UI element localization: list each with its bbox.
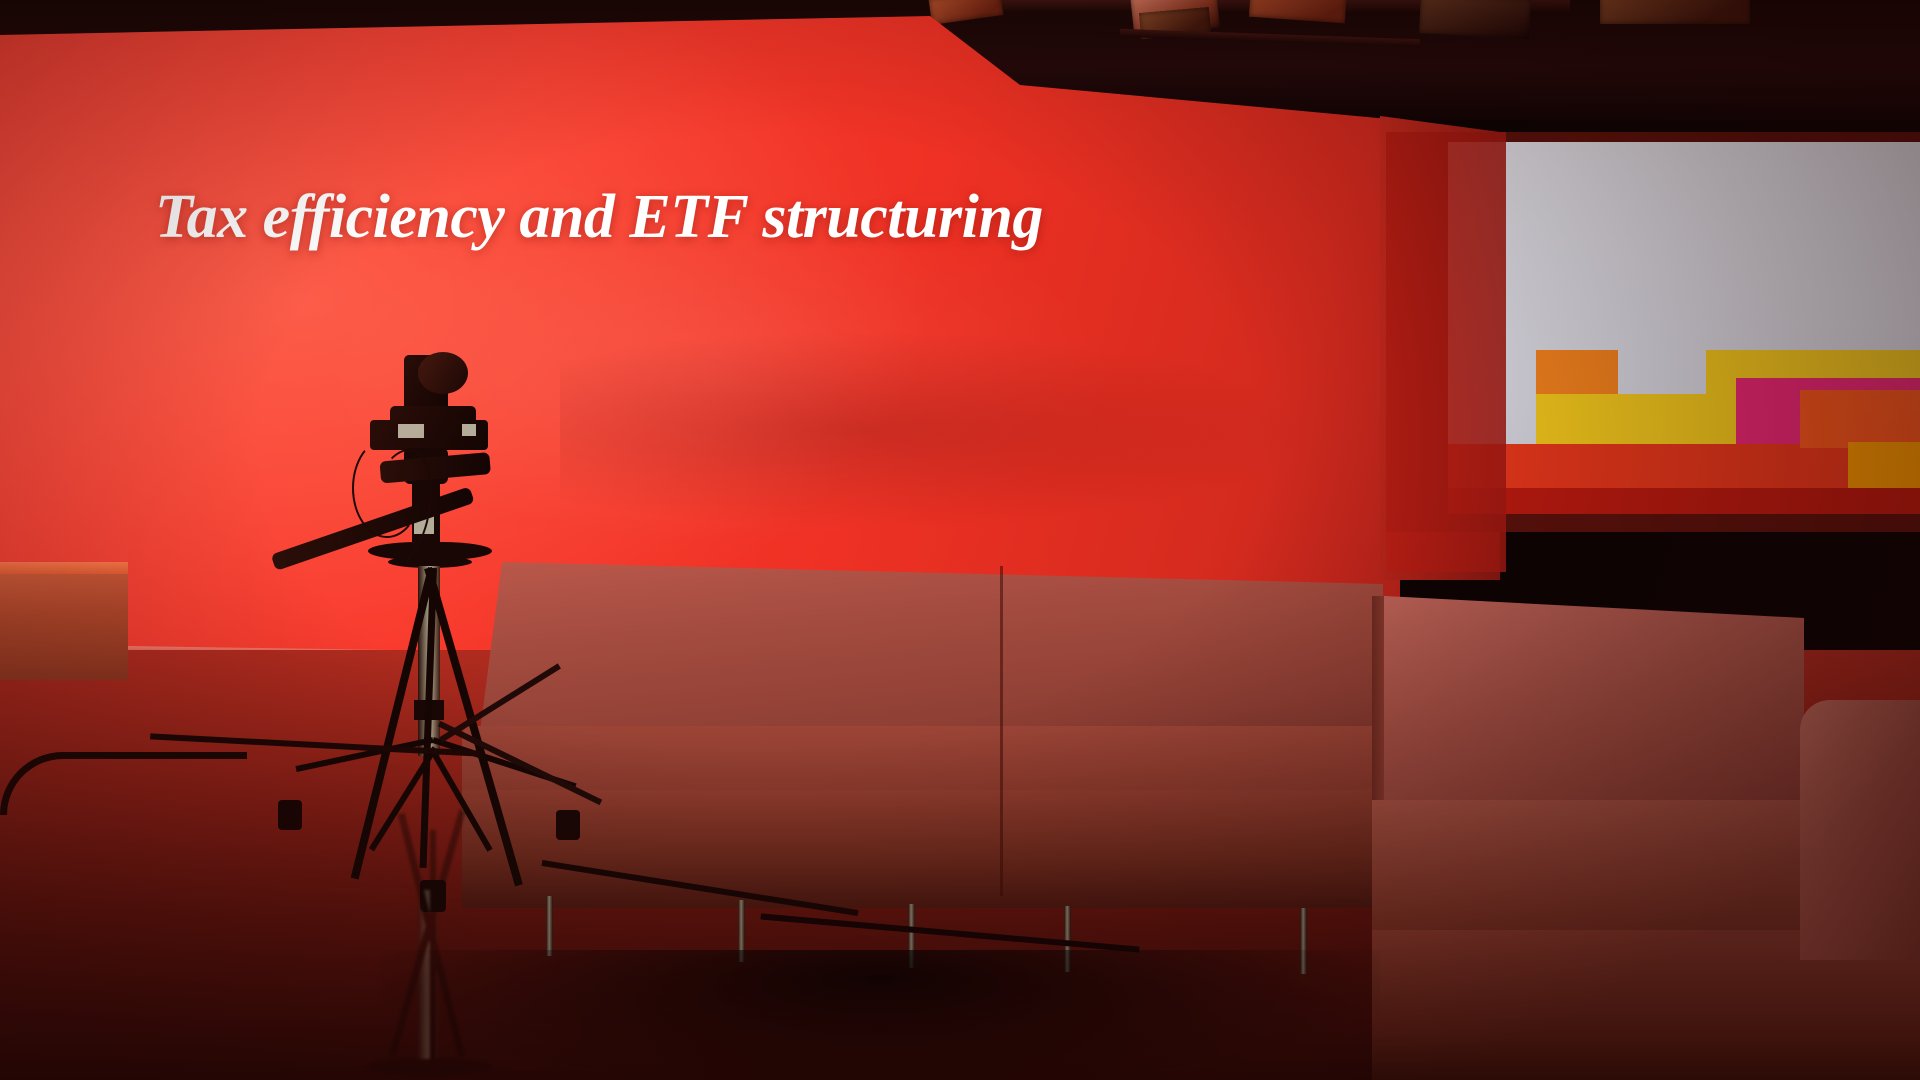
reflection-bowl [368,1059,492,1075]
tripod-floor-reflection [250,790,570,1080]
camera-lens-icon [418,352,468,394]
camera-label-tape [462,424,476,436]
studio-scene: Tax efficiency and ETF structuring [0,0,1920,1080]
floor-cable [0,752,247,815]
reflection-leg [430,830,436,1060]
camera-label-tape [398,424,424,438]
